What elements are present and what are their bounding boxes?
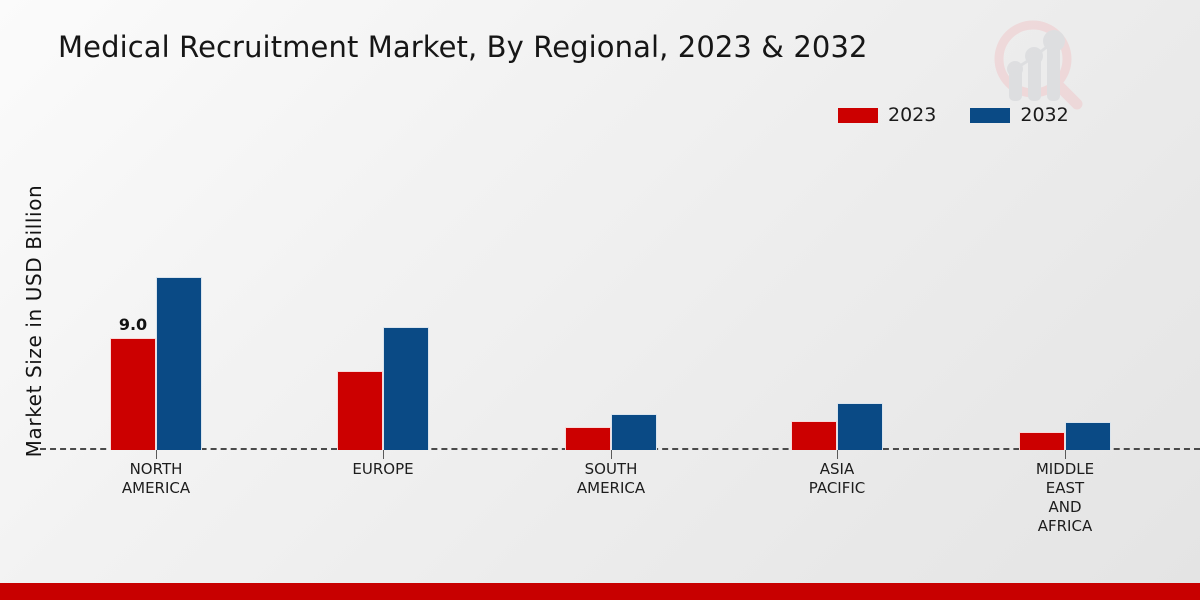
legend-swatch-2032 [970,108,1010,123]
bar-group: MIDDLEEASTANDAFRICA [1018,150,1112,450]
category-label-line: AND [1048,498,1081,516]
bar-group: SOUTHAMERICA [564,150,658,450]
category-label-line: AMERICA [577,479,645,497]
axis-tick [1065,450,1066,459]
legend-item-2032[interactable]: 2032 [970,104,1068,126]
bar-2032[interactable] [611,414,657,450]
category-label-line: EAST [1046,479,1084,497]
axis-tick [156,450,157,459]
bar-2032[interactable] [837,403,883,450]
page-title: Medical Recruitment Market, By Regional,… [58,30,868,64]
bar-2023[interactable] [565,427,611,450]
category-label: MIDDLEEASTANDAFRICA [1036,460,1094,536]
bar-value-label: 9.0 [119,315,147,334]
category-label-line: AFRICA [1038,517,1092,535]
axis-tick [611,450,612,459]
bar-pair [790,150,884,450]
category-label-line: PACIFIC [809,479,866,497]
bar-2023[interactable] [791,421,837,450]
category-label: EUROPE [352,460,413,479]
category-label-line: SOUTH [585,460,638,478]
bar-group: 9.0NORTHAMERICA [109,150,203,450]
category-label: ASIAPACIFIC [809,460,866,498]
bar-pair [336,150,430,450]
category-label-line: AMERICA [122,479,190,497]
bar-2023[interactable] [1019,432,1065,450]
bar-2032[interactable] [383,327,429,450]
bar-2023[interactable]: 9.0 [110,338,156,450]
bar-group: ASIAPACIFIC [790,150,884,450]
footer-accent-bar [0,583,1200,600]
watermark-logo [985,12,1095,112]
category-label: SOUTHAMERICA [577,460,645,498]
category-label: NORTHAMERICA [122,460,190,498]
axis-tick [383,450,384,459]
category-label-line: EUROPE [352,460,413,478]
legend-swatch-2023 [838,108,878,123]
chart-legend: 2023 2032 [838,104,1069,126]
bar-pair [564,150,658,450]
bar-group: EUROPE [336,150,430,450]
bar-2023[interactable] [337,371,383,450]
bar-2032[interactable] [156,277,202,450]
plot-area: 9.0NORTHAMERICAEUROPESOUTHAMERICAASIAPAC… [40,150,1200,450]
bar-pair: 9.0 [109,150,203,450]
legend-label-2032: 2032 [1020,104,1068,126]
axis-tick [837,450,838,459]
legend-label-2023: 2023 [888,104,936,126]
category-label-line: NORTH [130,460,183,478]
category-label-line: ASIA [820,460,854,478]
bar-pair [1018,150,1112,450]
category-label-line: MIDDLE [1036,460,1094,478]
legend-item-2023[interactable]: 2023 [838,104,936,126]
bar-2032[interactable] [1065,422,1111,450]
